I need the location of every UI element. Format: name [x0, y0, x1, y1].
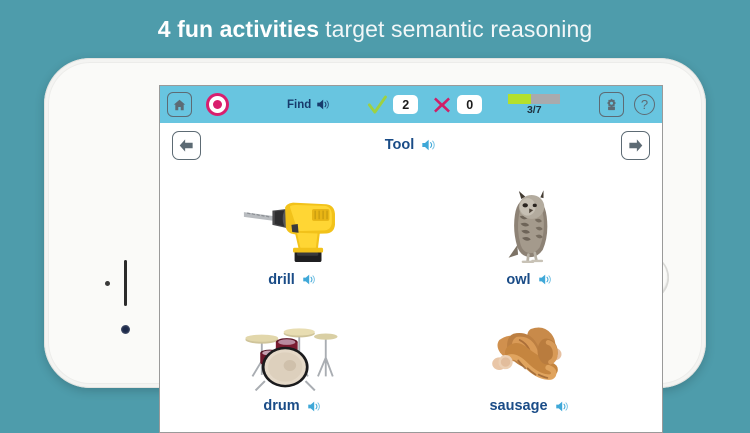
previous-button[interactable] [172, 131, 201, 160]
answer-choice-drill[interactable]: drill [174, 167, 411, 294]
answer-choice-owl[interactable]: owl [411, 167, 648, 294]
checkmark-icon [367, 95, 388, 115]
answer-label: sausage [489, 398, 547, 414]
front-camera-icon [121, 325, 130, 334]
progress-indicator: 3/7 [508, 94, 560, 116]
answer-label: drum [263, 398, 299, 414]
category-title: Tool [385, 137, 415, 153]
cordless-drill-image[interactable] [237, 188, 349, 266]
find-label: Find [287, 99, 311, 111]
owl-image[interactable] [499, 188, 561, 266]
sausages-image[interactable] [478, 314, 582, 392]
page-title: 4 fun activities target semantic reasoni… [0, 0, 750, 58]
answer-label: owl [506, 272, 530, 288]
speaker-icon[interactable] [302, 273, 317, 286]
category-title-group[interactable]: Tool [201, 137, 621, 153]
speaker-icon[interactable] [307, 400, 322, 413]
arrow-left-icon [178, 138, 195, 153]
drum-kit-image[interactable] [238, 314, 348, 392]
home-button-app[interactable] [167, 92, 192, 117]
page-title-bold: 4 fun activities [158, 16, 319, 43]
app-toolbar: Find 2 [160, 86, 662, 123]
progress-label: 3/7 [527, 104, 542, 116]
speaker-icon[interactable] [421, 138, 437, 152]
app-screen: Find 2 [159, 85, 663, 433]
speaker-icon[interactable] [316, 98, 331, 111]
record-icon [213, 100, 222, 109]
question-mark-icon: ? [641, 97, 648, 112]
answer-choice-drum[interactable]: drum [174, 294, 411, 421]
find-prompt[interactable]: Find [287, 98, 331, 111]
earpiece-speaker [124, 260, 127, 306]
speaker-icon[interactable] [555, 400, 570, 413]
help-button[interactable]: ? [634, 94, 655, 115]
speaker-icon[interactable] [538, 273, 553, 286]
settings-button[interactable] [599, 92, 624, 117]
answer-label-group: drum [263, 398, 321, 414]
progress-track [508, 94, 560, 104]
page-title-light: target semantic reasoning [325, 16, 592, 43]
answer-label-group: drill [268, 272, 317, 288]
score-display: 2 0 [367, 95, 482, 115]
answer-label: drill [268, 272, 295, 288]
home-icon [172, 98, 187, 112]
progress-fill [508, 94, 530, 104]
navigation-bar: Tool [160, 123, 662, 167]
next-button[interactable] [621, 131, 650, 160]
answer-label-group: owl [506, 272, 552, 288]
ambient-sensor-icon [105, 281, 110, 286]
record-button[interactable] [206, 93, 229, 116]
answer-choice-grid: drill [160, 167, 662, 426]
arrow-right-icon [627, 138, 644, 153]
x-mark-icon [432, 95, 452, 115]
answer-choice-sausage[interactable]: sausage [411, 294, 648, 421]
incorrect-count: 0 [457, 95, 482, 114]
correct-count: 2 [393, 95, 418, 114]
gear-icon [604, 97, 619, 112]
phone-device-frame: Find 2 [44, 58, 706, 388]
toolbar-right-group: ? [599, 92, 655, 117]
answer-label-group: sausage [489, 398, 569, 414]
